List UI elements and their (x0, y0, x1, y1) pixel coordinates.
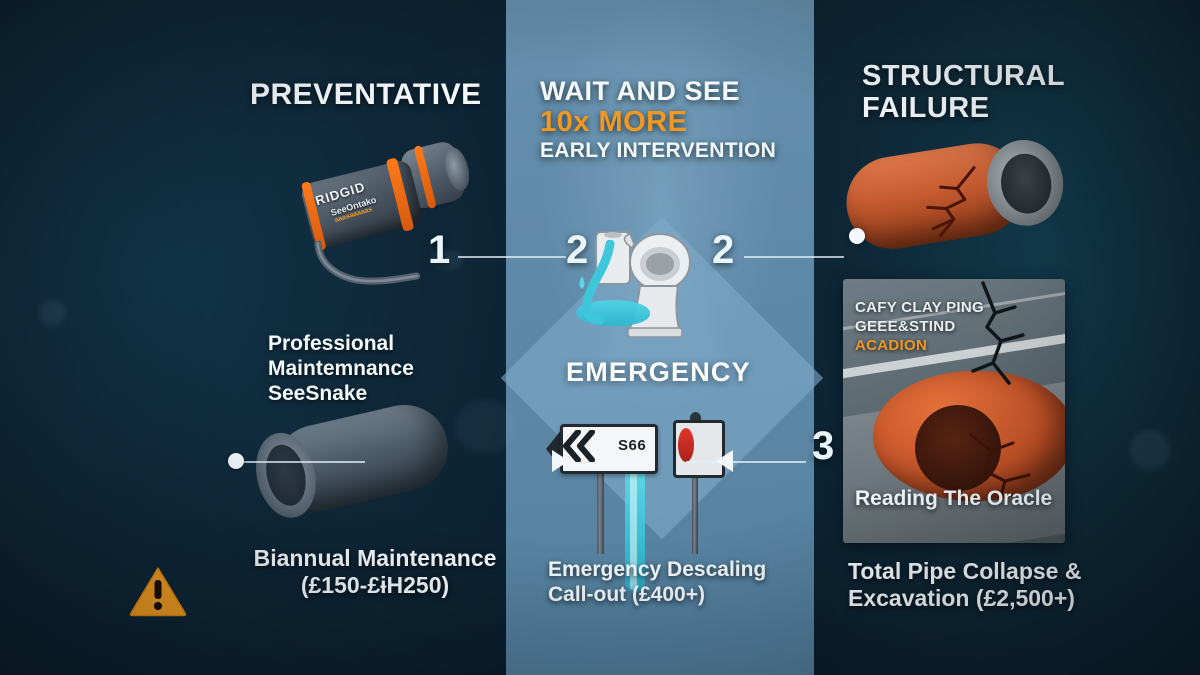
pipe-crack-lines (882, 155, 1013, 253)
connector-line (686, 461, 806, 463)
card-text-line2: GEEE&STIND (855, 318, 984, 337)
center-header-line3: EARLY INTERVENTION (540, 139, 800, 163)
card-text-line1: CAFY CLAY PING (855, 299, 984, 318)
step-number-2b: 2 (712, 228, 734, 273)
infographic-canvas: RISK THEERMMATIE PREVENTATIVE RIDGID See… (0, 0, 1200, 675)
secondary-sign-marker (678, 428, 694, 462)
warning-triangle-icon (129, 565, 187, 617)
connector-line (744, 256, 844, 258)
card-text-line3: ACADION (855, 337, 984, 356)
step-number-3: 3 (812, 424, 834, 469)
connector-dot (849, 228, 865, 244)
center-column-header: WAIT AND SEE 10x MORE EARLY INTERVENTION (540, 76, 800, 162)
step-number-1: 1 (428, 228, 450, 273)
connector-line (458, 256, 566, 258)
arrow-right-icon (552, 450, 569, 472)
center-bottom-caption: Emergency Descaling Call-out (£400+) (548, 558, 798, 608)
bokeh-speck (40, 300, 66, 326)
left-column-header: PREVENTATIVE (250, 78, 482, 112)
left-bottom-caption: Biannual Maintenance (£150-£ɨH250) (245, 545, 505, 599)
center-header-highlight: 10x MORE (540, 106, 800, 138)
card-caption: Reading The Oracle (855, 487, 1055, 511)
arrow-left-icon (716, 450, 733, 472)
card-overlay-text: CAFY CLAY PING GEEE&STIND ACADION (855, 299, 984, 355)
bokeh-speck (1130, 430, 1170, 470)
right-bottom-caption: Total Pipe Collapse & Excavation (£2,500… (848, 558, 1168, 612)
center-header-line1: WAIT AND SEE (540, 76, 740, 106)
left-top-caption: Professional Maintemnance SeeSnake (268, 332, 498, 406)
sign-text: S66 (618, 437, 646, 454)
connector-dot (228, 453, 244, 469)
right-column-header: STRUCTURAL FAILURE (862, 60, 1162, 125)
bokeh-speck (455, 400, 515, 454)
connector-line (235, 461, 365, 463)
card-crack-lines-lower (963, 429, 1065, 539)
emergency-label: EMERGENCY (566, 357, 751, 389)
step-number-2a: 2 (566, 228, 588, 273)
